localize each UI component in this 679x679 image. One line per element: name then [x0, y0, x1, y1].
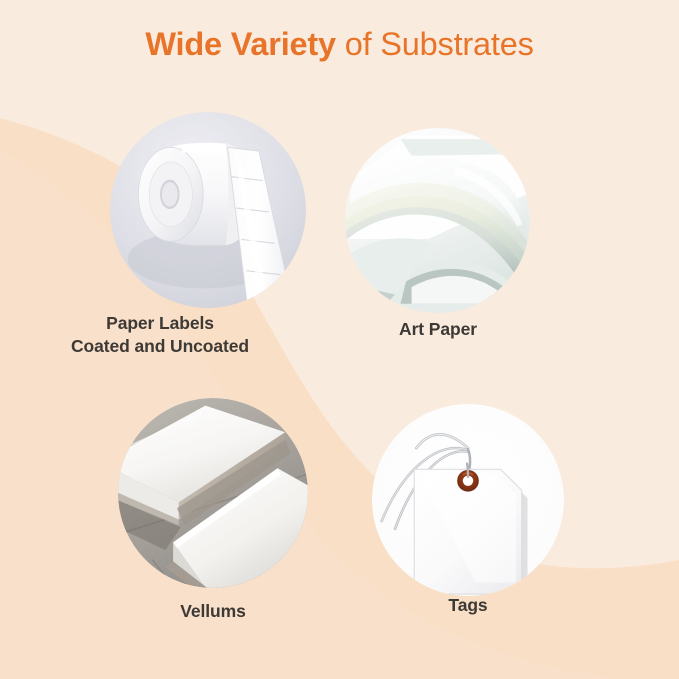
caption-line-1: Tags — [298, 594, 638, 617]
caption-art-paper: Art Paper — [268, 318, 608, 341]
caption-tags: Tags — [298, 594, 638, 617]
string-tag-photo — [372, 404, 564, 596]
page-title-bold: Wide Variety — [145, 26, 336, 62]
page-title: Wide Variety of Substrates — [0, 26, 679, 63]
caption-line-1: Art Paper — [268, 318, 608, 341]
page-title-light: of Substrates — [336, 26, 534, 62]
label-roll-photo — [110, 112, 306, 308]
infographic-canvas: Wide Variety of Substrates — [0, 0, 679, 679]
art-paper-sheets-photo — [345, 128, 530, 313]
vellum-reams-photo — [118, 398, 308, 588]
